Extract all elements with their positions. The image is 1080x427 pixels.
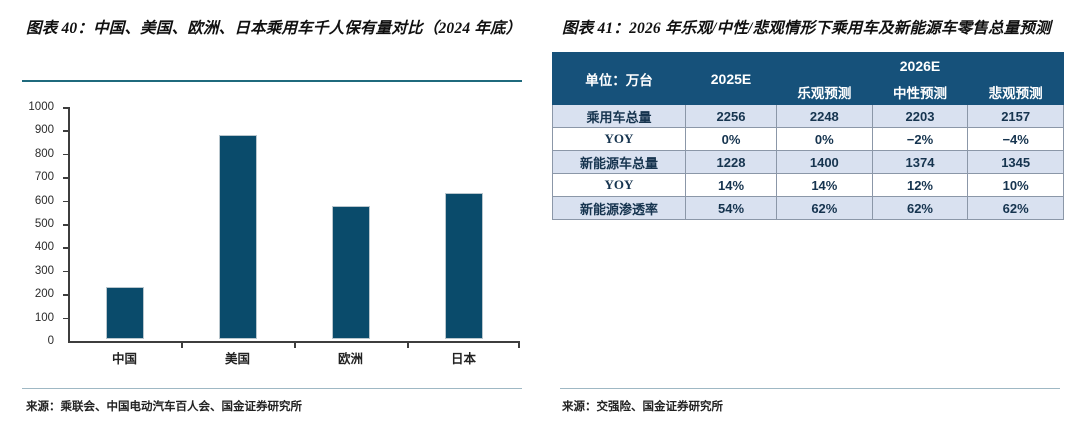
y-tick-mark [63,154,69,156]
y-tick-label: 800 [0,149,54,159]
y-tick-mark [63,318,69,320]
y-tick-mark [63,130,69,132]
figure-page: 图表 40：中国、美国、欧洲、日本乘用车千人保有量对比（2024 年底） 100… [0,0,1080,427]
x-tick-label: 中国 [80,348,170,367]
table-cell: 1400 [777,151,873,174]
table-cell: 14% [686,174,777,197]
table-cell: −2% [872,128,968,151]
table-cell: −4% [968,128,1064,151]
row-label: 乘用车总量 [553,105,686,128]
row-label: YOY [553,174,686,197]
y-tick-mark [63,294,69,296]
exhibit-41-bottom-rule [560,388,1060,389]
y-tick-label: 500 [0,219,54,229]
y-tick-label: 700 [0,172,54,182]
exhibit-40-panel: 图表 40：中国、美国、欧洲、日本乘用车千人保有量对比（2024 年底） 100… [0,0,540,427]
exhibit-40-top-rule [22,80,522,82]
exhibit-41-source: 来源：交强险、国金证券研究所 [562,398,723,414]
row-label: YOY [553,128,686,151]
table-cell: 1374 [872,151,968,174]
bar [445,193,483,339]
row-label: 新能源渗透率 [553,197,686,220]
y-tick-label: 300 [0,266,54,276]
bar [219,135,257,339]
table-cell: 62% [968,197,1064,220]
exhibit-41-panel: 图表 41：2026 年乐观/中性/悲观情形下乘用车及新能源车零售总量预测 单位… [540,0,1080,427]
header-2025e: 2025E [686,53,777,105]
exhibit-41-title: 图表 41：2026 年乐观/中性/悲观情形下乘用车及新能源车零售总量预测 [562,16,1062,41]
table-row: 乘用车总量2256224822032157 [553,105,1064,128]
y-tick-label: 1000 [0,102,54,112]
x-tick-label: 日本 [419,348,509,367]
table-head: 单位：万台 2025E 2026E 乐观预测 中性预测 悲观预测 [553,53,1064,105]
table-cell: 10% [968,174,1064,197]
bar [106,287,144,339]
x-tick-label: 欧洲 [306,348,396,367]
table-cell: 2157 [968,105,1064,128]
table-row: YOY0%0%−2%−4% [553,128,1064,151]
x-tick-mark [294,341,296,348]
table-cell: 2256 [686,105,777,128]
y-tick-label: 400 [0,242,54,252]
y-tick-mark [63,177,69,179]
table-cell: 2248 [777,105,873,128]
exhibit-40-title: 图表 40：中国、美国、欧洲、日本乘用车千人保有量对比（2024 年底） [26,16,518,41]
table-cell: 0% [777,128,873,151]
table-body: 乘用车总量2256224822032157YOY0%0%−2%−4%新能源车总量… [553,105,1064,220]
x-tick-label: 美国 [193,348,283,367]
header-unit: 单位：万台 [553,53,686,105]
y-tick-mark [63,201,69,203]
x-tick-mark [181,341,183,348]
table-cell: 1228 [686,151,777,174]
table-row: YOY14%14%12%10% [553,174,1064,197]
table-cell: 0% [686,128,777,151]
table-cell: 1345 [968,151,1064,174]
table-cell: 62% [872,197,968,220]
y-tick-mark [63,224,69,226]
y-tick-mark [63,271,69,273]
bar-chart: 10009008007006005004003002001000 中国美国欧洲日… [0,86,540,376]
x-axis-labels: 中国美国欧洲日本 [68,348,520,372]
table-cell: 12% [872,174,968,197]
header-neutral: 中性预测 [872,79,968,105]
plot-area [68,107,520,341]
table-cell: 54% [686,197,777,220]
y-axis-labels: 10009008007006005004003002001000 [0,86,62,320]
y-tick-label: 100 [0,313,54,323]
exhibit-40-bottom-rule [22,388,522,389]
table-row: 新能源车总量1228140013741345 [553,151,1064,174]
y-tick-mark [63,247,69,249]
header-optimistic: 乐观预测 [777,79,873,105]
table-header-row-1: 单位：万台 2025E 2026E [553,53,1064,79]
x-tick-mark [407,341,409,348]
table-cell: 14% [777,174,873,197]
y-tick-label: 200 [0,289,54,299]
forecast-table: 单位：万台 2025E 2026E 乐观预测 中性预测 悲观预测 乘用车总量22… [552,52,1064,220]
row-label: 新能源车总量 [553,151,686,174]
table-cell: 2203 [872,105,968,128]
header-pessimistic: 悲观预测 [968,79,1064,105]
table-row: 新能源渗透率54%62%62%62% [553,197,1064,220]
exhibit-40-source: 来源：乘联会、中国电动汽车百人会、国金证券研究所 [26,398,302,414]
bar [332,206,370,339]
y-tick-label: 900 [0,125,54,135]
x-tick-mark [518,341,520,348]
table-cell: 62% [777,197,873,220]
header-2026e-group: 2026E [777,53,1064,79]
y-tick-label: 0 [0,336,54,346]
y-tick-mark [63,107,69,109]
forecast-table-wrapper: 单位：万台 2025E 2026E 乐观预测 中性预测 悲观预测 乘用车总量22… [552,52,1064,220]
y-tick-label: 600 [0,196,54,206]
